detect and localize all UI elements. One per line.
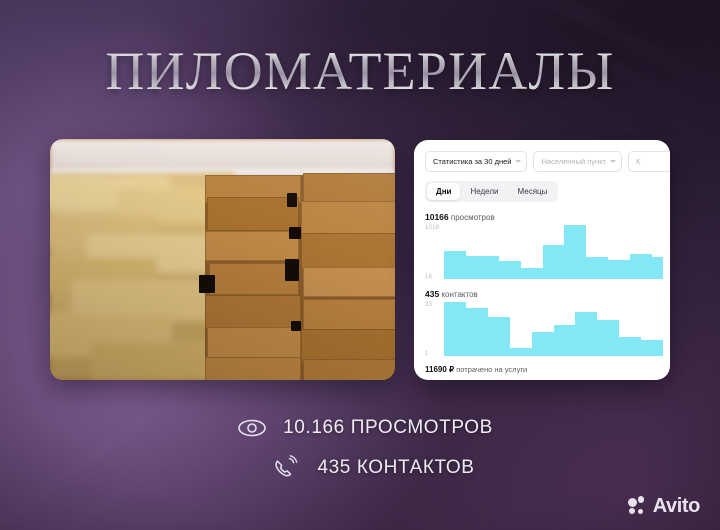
chart-bar [564, 225, 575, 279]
views-axis-min: 16 [425, 274, 432, 280]
spend-value: 11690 ₽ [425, 365, 454, 374]
chart-bar [532, 268, 543, 279]
tab-weeks[interactable]: Недели [461, 183, 507, 200]
chart-bar [575, 312, 586, 356]
chart-bar [466, 308, 477, 356]
contacts-metric: 435 контактов [425, 289, 670, 299]
chevron-down-icon [515, 160, 521, 163]
chart-bar [510, 348, 521, 356]
contacts-axis-min: 1 [425, 351, 429, 357]
chart-bar [586, 312, 597, 356]
chart-bar [455, 302, 466, 356]
chart-bar [608, 320, 619, 356]
product-photo [50, 139, 395, 380]
chart-bar [455, 251, 466, 279]
phone-call-icon [269, 455, 303, 481]
views-chart: 1018 16 [425, 225, 663, 279]
views-summary-text: 10.166 ПРОСМОТРОВ [283, 417, 493, 439]
views-bars [444, 225, 663, 279]
chart-bar [597, 257, 608, 279]
views-axis-max: 1018 [425, 225, 439, 231]
chart-bar [532, 332, 543, 356]
chart-bar [554, 325, 565, 356]
chart-bar [510, 261, 521, 279]
period-select[interactable]: Статистика за 30 дней [425, 151, 527, 172]
chart-bar [619, 337, 630, 356]
avito-wordmark: Avito [653, 496, 700, 516]
page-title: ПИЛОМАТЕРИАЛЫ [0, 44, 720, 98]
chart-bar [619, 260, 630, 279]
photo-content [50, 139, 395, 380]
chart-bar [477, 308, 488, 356]
category-select-value: К [636, 157, 640, 166]
views-metric-label: просмотров [451, 213, 495, 222]
views-metric-value: 10166 [425, 212, 449, 222]
filters-row: Статистика за 30 дней Населенный пункт К [414, 140, 670, 172]
period-select-value: Статистика за 30 дней [433, 157, 511, 166]
chart-bar [586, 257, 597, 279]
contacts-summary-text: 435 КОНТАКТОВ [317, 457, 474, 479]
chart-bar [543, 332, 554, 356]
chart-bar [641, 340, 652, 356]
contacts-axis-max: 33 [425, 302, 432, 308]
avito-logo: Avito [628, 496, 700, 516]
chart-bar [521, 268, 532, 279]
spend-label: потрачено на услуги [456, 365, 527, 374]
contacts-metric-label: контактов [441, 290, 477, 299]
chart-bar [564, 325, 575, 356]
chart-bar [597, 320, 608, 356]
chart-bar [630, 337, 641, 356]
chart-bar [543, 245, 554, 279]
contacts-metric-value: 435 [425, 289, 439, 299]
chart-bar [652, 340, 663, 356]
category-select[interactable]: К [628, 151, 670, 172]
chart-bar [630, 254, 641, 279]
chart-bar [488, 256, 499, 279]
chart-bar [575, 225, 586, 279]
contacts-summary-row: 435 КОНТАКТОВ [0, 448, 720, 488]
chevron-down-icon [610, 160, 616, 163]
spend-footer: 11690 ₽ потрачено на услуги [425, 365, 670, 374]
chart-bar [499, 317, 510, 356]
granularity-tabs: Дни Недели Месяцы [425, 181, 558, 202]
avito-statistics-card: Статистика за 30 дней Населенный пункт К… [414, 140, 670, 380]
chart-bar [521, 348, 532, 356]
chart-bar [652, 257, 663, 279]
chart-bar [444, 251, 455, 279]
city-select[interactable]: Населенный пункт [533, 151, 622, 172]
chart-bar [641, 254, 652, 279]
chart-bar [499, 261, 510, 279]
poster-canvas: ПИЛОМАТЕРИАЛЫ [0, 0, 720, 530]
chart-bar [477, 256, 488, 279]
eye-icon [235, 415, 269, 441]
tab-months[interactable]: Месяцы [509, 183, 557, 200]
avito-dots-icon [628, 496, 648, 516]
contacts-bars [444, 302, 663, 356]
chart-bar [466, 256, 477, 279]
views-metric: 10166 просмотров [425, 212, 670, 222]
chart-bar [554, 245, 565, 279]
chart-bar [608, 260, 619, 279]
tab-days[interactable]: Дни [427, 183, 460, 200]
views-summary-row: 10.166 ПРОСМОТРОВ [0, 408, 720, 448]
chart-bar [488, 317, 499, 356]
bottom-stats: 10.166 ПРОСМОТРОВ 435 КОНТАКТОВ [0, 408, 720, 488]
photo-shading [50, 139, 395, 380]
city-select-value: Населенный пункт [541, 157, 606, 166]
chart-bar [444, 302, 455, 356]
contacts-chart: 33 1 [425, 302, 663, 356]
